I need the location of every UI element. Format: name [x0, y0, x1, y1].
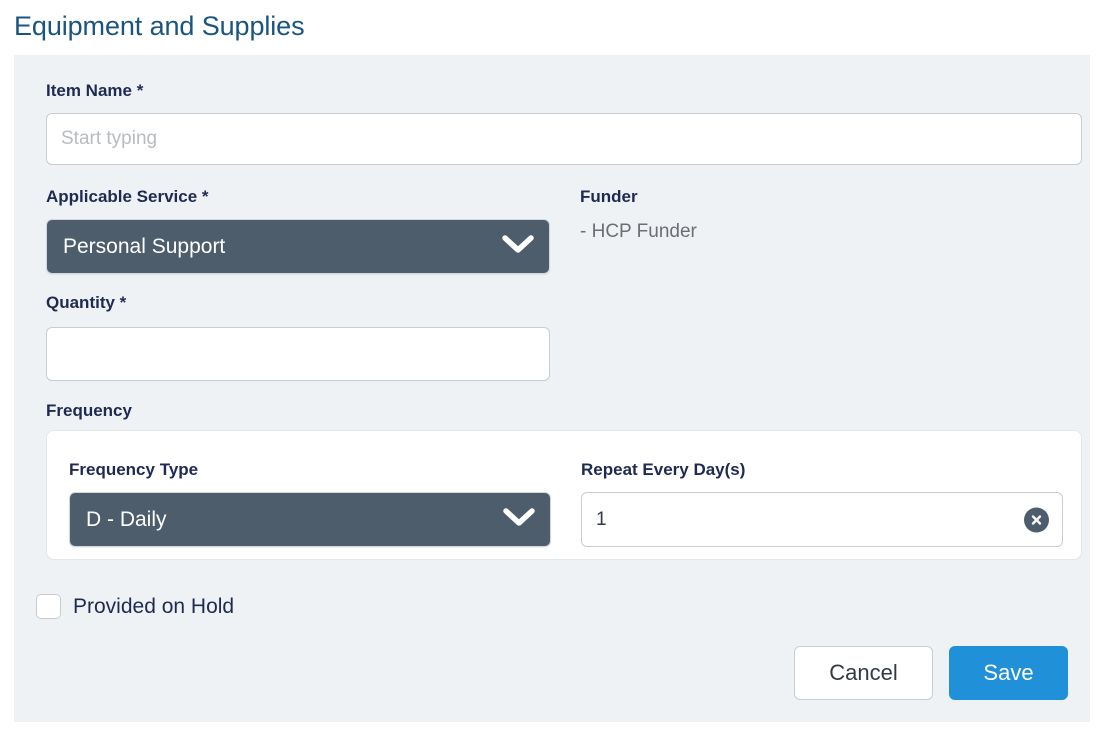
funder-label: Funder [580, 186, 638, 208]
frequency-type-value: D - Daily [86, 509, 167, 530]
footer-actions: Cancel Save [794, 646, 1068, 700]
frequency-card: Frequency Type D - Daily Repeat Every Da… [46, 430, 1082, 560]
repeat-every-days-label: Repeat Every Day(s) [581, 459, 745, 481]
provided-on-hold-checkbox[interactable] [36, 594, 61, 619]
repeat-every-days-field [581, 492, 1063, 547]
equipment-and-supplies-form: Item Name * Applicable Service * Persona… [14, 55, 1090, 722]
clear-circle-x-icon[interactable] [1024, 507, 1049, 532]
frequency-section-label: Frequency [46, 400, 132, 422]
applicable-service-select[interactable]: Personal Support [46, 219, 550, 274]
save-button[interactable]: Save [949, 646, 1068, 700]
provided-on-hold-label: Provided on Hold [73, 596, 234, 617]
cancel-button[interactable]: Cancel [794, 646, 933, 700]
applicable-service-label: Applicable Service * [46, 186, 209, 208]
page-title: Equipment and Supplies [14, 9, 305, 43]
item-name-input[interactable] [46, 113, 1082, 165]
provided-on-hold-row[interactable]: Provided on Hold [36, 594, 234, 619]
quantity-label: Quantity * [46, 292, 126, 314]
item-name-label: Item Name * [46, 80, 143, 102]
frequency-type-select[interactable]: D - Daily [69, 492, 551, 547]
quantity-input[interactable] [46, 327, 550, 381]
repeat-every-days-input[interactable] [581, 492, 1063, 547]
chevron-down-icon [502, 506, 536, 533]
applicable-service-value: Personal Support [63, 236, 225, 257]
frequency-type-label: Frequency Type [69, 459, 198, 481]
chevron-down-icon [501, 233, 535, 260]
funder-value: - HCP Funder [580, 220, 697, 244]
